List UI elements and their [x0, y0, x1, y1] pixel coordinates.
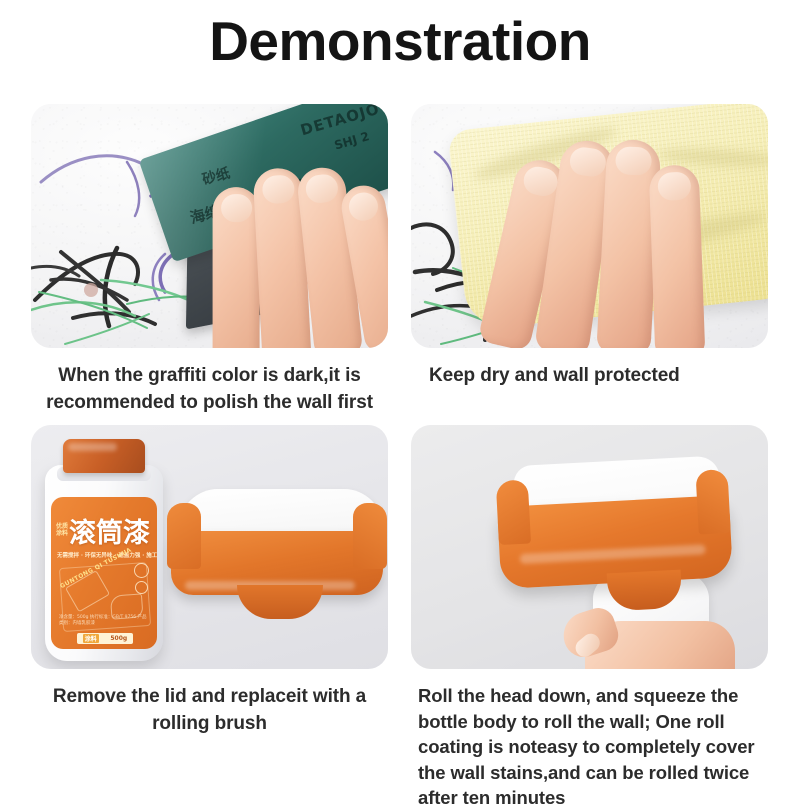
label-vertical-text: 优质涂料 — [56, 523, 68, 537]
fingernail — [615, 146, 652, 176]
step-4-photo — [411, 425, 768, 669]
step-card-4: Roll the head down, and squeeze the bott… — [411, 425, 768, 811]
roller-side-lug — [353, 503, 387, 569]
label-badge-category: 涂料 — [83, 634, 99, 643]
fingernail — [261, 175, 295, 205]
step-card-2: Keep dry and wall protected — [411, 104, 768, 389]
label-fine-print: 净含量：500g 执行标准：GB/T 9756 产品类别：内墙乳胶漆 — [59, 615, 147, 627]
fingernail — [221, 194, 252, 222]
roller-highlight — [520, 544, 706, 564]
hand — [563, 595, 735, 669]
step-1-photo: DETAOJO SHJ 2 砂纸 海绵 打磨块 — [31, 104, 388, 348]
roller-side-lug — [695, 469, 730, 535]
label-badge-circle — [134, 563, 149, 578]
roller-side-lug — [496, 479, 531, 545]
step-3-caption: Remove the lid and replaceit with a roll… — [31, 683, 388, 737]
roller-side-lug — [167, 503, 201, 569]
fingernail — [304, 173, 338, 204]
label-badge-circle — [135, 581, 148, 594]
fingernail — [568, 146, 607, 179]
roller-brush-head — [171, 489, 383, 639]
fingernail — [657, 172, 691, 201]
label-weight-badge: 涂料 500g — [77, 633, 133, 644]
finger — [649, 164, 706, 348]
demonstration-infographic: Demonstration — [0, 0, 800, 800]
fingernail — [347, 190, 380, 223]
hand — [489, 119, 717, 348]
step-3-photo: 优质涂料 滚筒漆 无需搅拌 · 环保无异味 · 遮盖力强 · 施工方便简单 GU… — [31, 425, 388, 669]
step-card-1: DETAOJO SHJ 2 砂纸 海绵 打磨块 When the graffit… — [31, 104, 388, 416]
label-badge-weight: 500g — [110, 635, 127, 642]
page-title: Demonstration — [0, 10, 800, 72]
finger — [213, 187, 260, 348]
steps-grid: DETAOJO SHJ 2 砂纸 海绵 打磨块 When the graffit… — [0, 96, 800, 800]
bottle-cap — [63, 439, 145, 473]
label-main-text: 滚筒漆 — [69, 519, 150, 548]
paint-bottle: 优质涂料 滚筒漆 无需搅拌 · 环保无异味 · 遮盖力强 · 施工方便简单 GU… — [45, 439, 163, 661]
bottle-label: 优质涂料 滚筒漆 无需搅拌 · 环保无异味 · 遮盖力强 · 施工方便简单 GU… — [51, 497, 157, 649]
fingernail — [521, 164, 561, 199]
step-1-caption: When the graffiti color is dark,it is re… — [31, 362, 388, 416]
step-2-caption: Keep dry and wall protected — [411, 362, 768, 389]
hand — [195, 152, 388, 348]
roller-stem — [237, 585, 323, 619]
step-4-caption: Roll the head down, and squeeze the bott… — [411, 683, 768, 811]
step-card-3: 优质涂料 滚筒漆 无需搅拌 · 环保无异味 · 遮盖力强 · 施工方便简单 GU… — [31, 425, 388, 737]
step-2-photo — [411, 104, 768, 348]
